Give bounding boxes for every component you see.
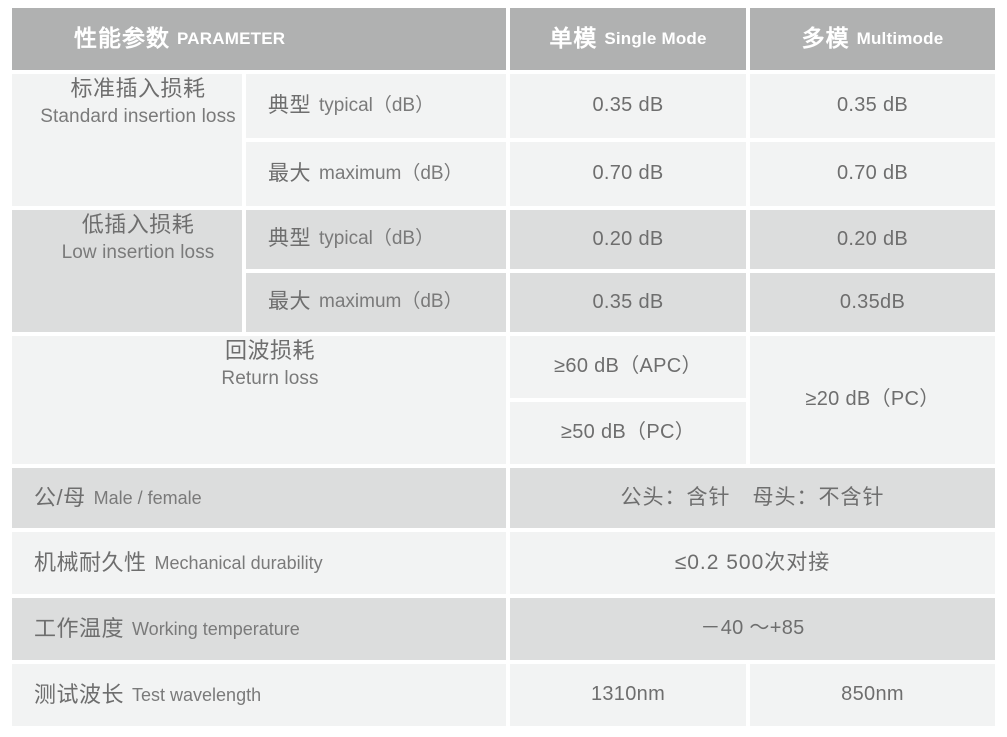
subparam-typical-cn: 典型 [268, 225, 311, 254]
table-row-low-insertion-loss: 低插入损耗 Low insertion loss 典型typical（dB） 最… [12, 210, 995, 332]
header-parameter-en: PARAMETER [177, 27, 285, 50]
param-label-mechanical-durability: 机械耐久性Mechanical durability [12, 532, 506, 594]
header-multimode-cn: 多模 [802, 23, 850, 55]
param-label-low-insertion-loss: 低插入损耗 Low insertion loss [12, 210, 242, 332]
subparam-typical-en: typical（dB） [319, 93, 434, 119]
value-multimode-return-loss: ≥20 dB（PC） [750, 336, 995, 464]
param-label-cn: 工作温度 [34, 614, 124, 644]
param-label-male-female: 公/母Male / female [12, 468, 506, 528]
value-single-mode-maximum: 0.70 dB [510, 142, 746, 206]
header-single-mode-cn: 单模 [549, 23, 597, 55]
table-row-mechanical-durability: 机械耐久性Mechanical durability ≤0.2 500次对接 [12, 532, 995, 594]
value-single-mode-typical: 0.20 dB [510, 210, 746, 269]
header-cell-single-mode: 单模Single Mode [510, 8, 746, 70]
param-label-cn: 公/母 [34, 483, 86, 513]
subparam-maximum: 最大maximum（dB） [246, 273, 506, 332]
value-multimode-test-wavelength: 850nm [750, 664, 995, 726]
value-single-mode-maximum: 0.35 dB [510, 273, 746, 332]
header-parameter-cn: 性能参数 [74, 23, 170, 55]
value-mechanical-durability: ≤0.2 500次对接 [510, 532, 995, 594]
param-label-cn: 低插入损耗 [82, 210, 195, 240]
single-mode-column: 0.20 dB 0.35 dB [510, 210, 746, 332]
header-cell-parameter: 性能参数PARAMETER [12, 8, 506, 70]
param-label-en: Mechanical durability [155, 551, 323, 576]
param-label-en: Test wavelength [132, 683, 261, 708]
specification-table: 性能参数PARAMETER 单模Single Mode 多模Multimode … [12, 8, 995, 726]
value-single-mode-typical: 0.35 dB [510, 74, 746, 138]
subparam-typical: 典型typical（dB） [246, 74, 506, 138]
param-label-test-wavelength: 测试波长Test wavelength [12, 664, 506, 726]
value-single-mode-test-wavelength: 1310nm [510, 664, 746, 726]
param-label-return-loss: 回波损耗 Return loss [12, 336, 506, 464]
single-mode-column: ≥60 dB（APC） ≥50 dB（PC） [510, 336, 746, 464]
header-cell-multimode: 多模Multimode [750, 8, 995, 70]
table-header-row: 性能参数PARAMETER 单模Single Mode 多模Multimode [12, 8, 995, 70]
subparam-maximum-en: maximum（dB） [319, 161, 463, 187]
subparam-typical-en: typical（dB） [319, 226, 434, 252]
value-multimode-maximum: 0.35dB [750, 273, 995, 332]
value-single-mode-return-loss-apc: ≥60 dB（APC） [510, 336, 746, 398]
table-row-working-temperature: 工作温度Working temperature －40 ～+85 [12, 598, 995, 660]
table-row-standard-insertion-loss: 标准插入损耗 Standard insertion loss 典型typical… [12, 74, 995, 206]
subparam-typical: 典型typical（dB） [246, 210, 506, 269]
param-label-en: Low insertion loss [62, 240, 215, 266]
subparam-maximum-cn: 最大 [268, 288, 311, 317]
subparam-typical-cn: 典型 [268, 92, 311, 121]
multimode-column: 0.20 dB 0.35dB [750, 210, 995, 332]
param-label-en: Standard insertion loss [40, 104, 236, 130]
subparam-maximum-cn: 最大 [268, 160, 311, 189]
header-single-mode-en: Single Mode [604, 27, 706, 50]
header-multimode-en: Multimode [857, 27, 944, 50]
value-multimode-maximum: 0.70 dB [750, 142, 995, 206]
subparam-column: 典型typical（dB） 最大maximum（dB） [246, 210, 506, 332]
value-single-mode-return-loss-pc: ≥50 dB（PC） [510, 402, 746, 464]
param-label-cn: 回波损耗 [225, 336, 315, 366]
param-label-en: Male / female [94, 486, 202, 511]
subparam-maximum: 最大maximum（dB） [246, 142, 506, 206]
value-multimode-typical: 0.20 dB [750, 210, 995, 269]
table-row-test-wavelength: 测试波长Test wavelength 1310nm 850nm [12, 664, 995, 726]
subparam-maximum-en: maximum（dB） [319, 289, 463, 315]
value-working-temperature: －40 ～+85 [510, 598, 995, 660]
value-multimode-typical: 0.35 dB [750, 74, 995, 138]
table-row-return-loss: 回波损耗 Return loss ≥60 dB（APC） ≥50 dB（PC） … [12, 336, 995, 464]
table-row-male-female: 公/母Male / female 公头：含针 母头：不含针 [12, 468, 995, 528]
param-label-standard-insertion-loss: 标准插入损耗 Standard insertion loss [12, 74, 242, 206]
param-label-cn: 测试波长 [34, 680, 124, 710]
param-label-working-temperature: 工作温度Working temperature [12, 598, 506, 660]
param-label-en: Return loss [221, 366, 318, 392]
multimode-column: 0.35 dB 0.70 dB [750, 74, 995, 206]
param-label-cn: 机械耐久性 [34, 548, 147, 578]
value-male-female: 公头：含针 母头：不含针 [510, 468, 995, 528]
subparam-column: 典型typical（dB） 最大maximum（dB） [246, 74, 506, 206]
single-mode-column: 0.35 dB 0.70 dB [510, 74, 746, 206]
param-label-cn: 标准插入损耗 [70, 74, 205, 104]
param-label-en: Working temperature [132, 617, 300, 642]
